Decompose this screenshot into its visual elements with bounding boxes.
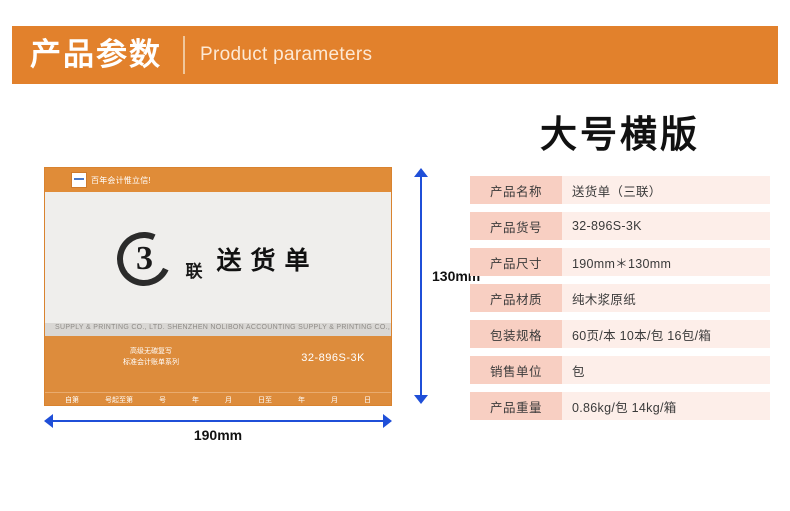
logo-mark-icon xyxy=(71,172,87,188)
cover-footer-fields: 自第 号起至第 号 年 月 日至 年 月 日 xyxy=(45,395,391,405)
page-subtitle: Product parameters xyxy=(200,44,372,66)
spec-key: 产品名称 xyxy=(470,176,562,204)
footer-field: 号 xyxy=(159,395,166,405)
cover-gray-strip: SUPPLY & PRINTING CO., LTD. SHENZHEN NOL… xyxy=(45,323,391,336)
company-english-text: SUPPLY & PRINTING CO., LTD. SHENZHEN NOL… xyxy=(55,324,391,331)
document-title: 送货单 xyxy=(216,241,318,277)
page-title: 产品参数 xyxy=(30,34,162,76)
copies-label: 联 xyxy=(185,257,202,286)
spec-value: 送货单（三联） xyxy=(562,176,770,204)
spec-row: 产品名称 送货单（三联） xyxy=(470,176,770,204)
spec-key: 销售单位 xyxy=(470,356,562,384)
cover-title-group: 3 联 送货单 xyxy=(117,232,318,286)
brush-circle-icon: 3 xyxy=(117,232,171,286)
product-parameters-page: 产品参数 Product parameters 百年会计惟立信! 3 联 xyxy=(0,0,790,511)
brand-logo: 百年会计惟立信! xyxy=(71,172,151,188)
footer-field: 月 xyxy=(331,395,338,405)
spec-row: 销售单位 包 xyxy=(470,356,770,384)
spec-value: 0.86kg/包 14kg/箱 xyxy=(562,392,770,420)
series-line-1: 高级无碳复写 xyxy=(123,346,179,357)
spec-value: 60页/本 10本/包 16包/箱 xyxy=(562,320,770,348)
spec-value: 纯木浆原纸 xyxy=(562,284,770,312)
cover-product-code: 32-896S-3K xyxy=(301,352,365,364)
dimension-line-vertical xyxy=(420,174,422,398)
cover-center-block: 3 联 送货单 xyxy=(45,232,391,291)
spec-key: 产品材质 xyxy=(470,284,562,312)
spec-key: 产品货号 xyxy=(470,212,562,240)
product-cover: 百年会计惟立信! 3 联 送货单 SUPPLY & PRINTING CO., … xyxy=(44,167,392,406)
spec-key: 包装规格 xyxy=(470,320,562,348)
spec-key: 产品尺寸 xyxy=(470,248,562,276)
spec-row: 产品重量 0.86kg/包 14kg/箱 xyxy=(470,392,770,420)
spec-row: 包装规格 60页/本 10本/包 16包/箱 xyxy=(470,320,770,348)
spec-row: 产品尺寸 190mm＊130mm xyxy=(470,248,770,276)
header-divider xyxy=(183,36,185,74)
spec-row: 产品货号 32-896S-3K xyxy=(470,212,770,240)
spec-key: 产品重量 xyxy=(470,392,562,420)
cover-lower-panel: 高级无碳复写 标准会计账单系列 32-896S-3K 自第 号起至第 号 年 月… xyxy=(45,336,391,406)
footer-field: 月 xyxy=(225,395,232,405)
cover-top-strip: 百年会计惟立信! xyxy=(45,168,391,192)
footer-field: 号起至第 xyxy=(105,395,133,405)
footer-field: 自第 xyxy=(65,395,79,405)
footer-field: 日至 xyxy=(258,395,272,405)
footer-field: 年 xyxy=(298,395,305,405)
spec-value: 190mm＊130mm xyxy=(562,248,770,276)
arrow-down-icon xyxy=(414,395,428,404)
cover-series-text: 高级无碳复写 标准会计账单系列 xyxy=(123,346,179,368)
footer-field: 年 xyxy=(192,395,199,405)
series-line-2: 标准会计账单系列 xyxy=(123,357,179,368)
spec-row: 产品材质 纯木浆原纸 xyxy=(470,284,770,312)
spec-value: 包 xyxy=(562,356,770,384)
height-dimension-arrow xyxy=(414,168,428,404)
width-dimension-label: 190mm xyxy=(44,414,392,456)
spec-panel: 大号横版 产品名称 送货单（三联） 产品货号 32-896S-3K 产品尺寸 1… xyxy=(470,104,770,428)
copies-number: 3 xyxy=(117,232,171,286)
product-image: 百年会计惟立信! 3 联 送货单 SUPPLY & PRINTING CO., … xyxy=(44,167,392,406)
spec-title: 大号横版 xyxy=(470,104,770,158)
footer-field: 日 xyxy=(364,395,371,405)
brand-slogan: 百年会计惟立信! xyxy=(91,175,151,186)
page-header: 产品参数 Product parameters xyxy=(12,26,778,84)
cover-bottom-rule xyxy=(45,392,391,393)
spec-value: 32-896S-3K xyxy=(562,212,770,240)
